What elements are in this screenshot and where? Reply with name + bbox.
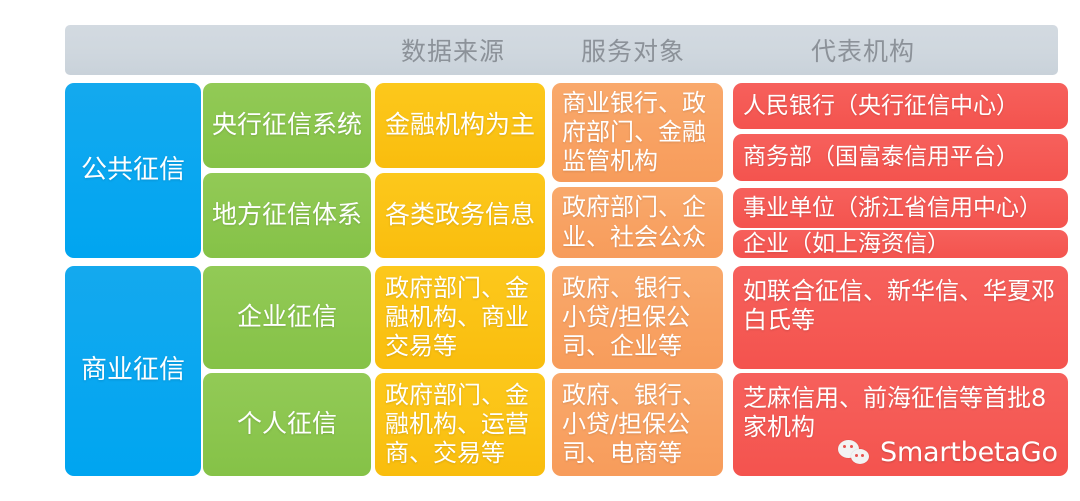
column-header-audience: 服务对象 <box>581 32 685 68</box>
institution-cell-pboc: 人民银行（央行征信中心） <box>733 83 1068 129</box>
institution-cell-enterprise-agencies: 如联合征信、新华信、华夏邓白氏等 <box>733 266 1068 369</box>
type-cell-local-credit-system: 地方征信体系 <box>203 173 371 258</box>
data-source-cell-enterprise: 政府部门、金融机构、商业交易等 <box>375 266 545 369</box>
institution-cell-personal-agencies: 芝麻信用、前海征信等首批8家机构 <box>733 373 1068 476</box>
data-source-cell-financial-institutions: 金融机构为主 <box>375 83 545 168</box>
category-cell-public-credit: 公共征信 <box>65 83 201 258</box>
institution-cell-mofcom: 商务部（国富泰信用平台） <box>733 134 1068 181</box>
credit-reporting-comparison-infographic: 数据来源 服务对象 代表机构 公共征信 央行征信系统 地方征信体系 金融机构为主… <box>0 0 1080 501</box>
category-cell-commercial-credit: 商业征信 <box>65 266 201 476</box>
column-header-bar: 数据来源 服务对象 代表机构 <box>65 25 1058 75</box>
data-source-cell-personal: 政府部门、金融机构、运营商、交易等 <box>375 373 545 476</box>
type-cell-enterprise-credit: 企业征信 <box>203 266 371 369</box>
data-source-cell-government-info: 各类政务信息 <box>375 173 545 258</box>
type-cell-central-bank-system: 央行征信系统 <box>203 83 371 168</box>
audience-cell-personal: 政府、银行、小贷/担保公司、电商等 <box>552 373 723 476</box>
column-header-data-source: 数据来源 <box>401 32 505 68</box>
column-header-institutions: 代表机构 <box>811 32 915 68</box>
audience-cell-banks-government-regulators: 商业银行、政府部门、金融监管机构 <box>552 83 723 182</box>
institution-cell-public-institution-zhejiang: 事业单位（浙江省信用中心） <box>733 188 1068 228</box>
audience-cell-enterprise: 政府、银行、小贷/担保公司、企业等 <box>552 266 723 369</box>
institution-cell-enterprise-shanghai-zixin: 企业（如上海资信） <box>733 230 1068 258</box>
audience-cell-government-enterprises-public: 政府部门、企业、社会公众 <box>552 187 723 258</box>
type-cell-personal-credit: 个人征信 <box>203 373 371 476</box>
